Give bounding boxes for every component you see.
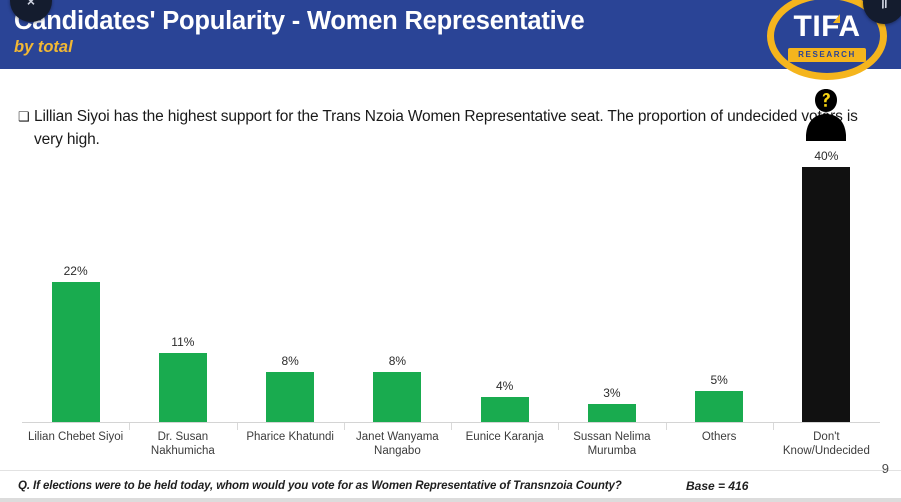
bar-value-label: 22% [64, 264, 88, 278]
axis-tick [558, 423, 559, 430]
x-axis-label: Others [666, 430, 773, 444]
x-axis-label-line: Pharice Khatundi [237, 430, 344, 444]
x-axis-label-line: Nakhumicha [129, 444, 236, 458]
page-number: 9 [882, 461, 889, 476]
bar-column[interactable]: 11% [129, 165, 236, 423]
logo-research-badge: RESEARCH [788, 48, 866, 62]
slide: Candidates' Popularity - Women Represent… [0, 0, 901, 502]
bar-value-label: 3% [603, 386, 620, 400]
x-axis-label: Don'tKnow/Undecided [773, 430, 880, 458]
x-axis-label-line: Eunice Karanja [451, 430, 558, 444]
close-glyph: × [27, 0, 35, 9]
expand-glyph: // [880, 0, 888, 11]
axis-tick [451, 423, 452, 430]
bar[interactable] [52, 282, 100, 423]
x-axis-label-line: Know/Undecided [773, 444, 880, 458]
x-axis-label: Dr. SusanNakhumicha [129, 430, 236, 458]
bar-column[interactable]: 8% [237, 165, 344, 423]
x-axis-label: Sussan NelimaMurumba [558, 430, 665, 458]
bar-column[interactable]: 4% [451, 165, 558, 423]
key-finding-block: ❑ Lillian Siyoi has the highest support … [18, 105, 880, 151]
bar[interactable] [802, 167, 850, 423]
x-axis-label-line: Others [666, 430, 773, 444]
bar-value-label: 4% [496, 379, 513, 393]
bar[interactable] [373, 372, 421, 423]
page-title: Candidates' Popularity - Women Represent… [14, 6, 584, 36]
person-question-mark-icon [805, 87, 847, 143]
x-axis-label-line: Dr. Susan [129, 430, 236, 444]
bar-value-label: 11% [171, 335, 194, 349]
axis-tick [129, 423, 130, 430]
page-subtitle: by total [14, 37, 584, 58]
x-axis-label-line: Lilian Chebet Siyoi [22, 430, 129, 444]
bar-column[interactable]: 5% [666, 165, 773, 423]
bar-value-label: 5% [710, 373, 727, 387]
survey-question: Q. If elections were to be held today, w… [18, 480, 622, 492]
bar-column[interactable]: 8% [344, 165, 451, 423]
bar-column[interactable]: 22% [22, 165, 129, 423]
x-axis-label-line: Janet Wanyama [344, 430, 451, 444]
bar[interactable] [266, 372, 314, 423]
bar[interactable] [159, 353, 207, 423]
x-axis-label: Lilian Chebet Siyoi [22, 430, 129, 444]
x-axis-label-line: Murumba [558, 444, 665, 458]
axis-tick [237, 423, 238, 430]
bar-value-label: 40% [814, 149, 838, 163]
slide-header: Candidates' Popularity - Women Represent… [0, 0, 901, 72]
bar-column[interactable]: 3% [558, 165, 665, 423]
x-axis-label-line: Sussan Nelima [558, 430, 665, 444]
bar[interactable] [481, 397, 529, 423]
x-axis-label: Pharice Khatundi [237, 430, 344, 444]
bar-column[interactable]: 40% [773, 165, 880, 423]
logo-accent-triangle-icon [833, 14, 840, 23]
bullet-square-icon: ❑ [18, 105, 34, 129]
footer-divider [0, 470, 901, 471]
bar[interactable] [695, 391, 743, 423]
chart-axis-ticks [22, 423, 880, 430]
bar[interactable] [588, 404, 636, 423]
key-finding-text: Lillian Siyoi has the highest support fo… [34, 105, 880, 151]
x-axis-label: Janet WanyamaNangabo [344, 430, 451, 458]
bar-chart: 22%11%8%8%4%3%5%40% [0, 165, 901, 423]
axis-tick [773, 423, 774, 430]
slide-bottom-edge [0, 498, 901, 502]
x-axis-label-line: Don't [773, 430, 880, 444]
header-text-block: Candidates' Popularity - Women Represent… [14, 6, 584, 58]
base-size: Base = 416 [686, 479, 748, 493]
bar-value-label: 8% [281, 354, 298, 368]
chart-plot-area: 22%11%8%8%4%3%5%40% [22, 165, 880, 423]
bar-value-label: 8% [389, 354, 406, 368]
axis-tick [666, 423, 667, 430]
x-axis-label-line: Nangabo [344, 444, 451, 458]
x-axis-label: Eunice Karanja [451, 430, 558, 444]
chart-x-axis-labels: Lilian Chebet SiyoiDr. SusanNakhumichaPh… [22, 430, 880, 470]
axis-tick [344, 423, 345, 430]
